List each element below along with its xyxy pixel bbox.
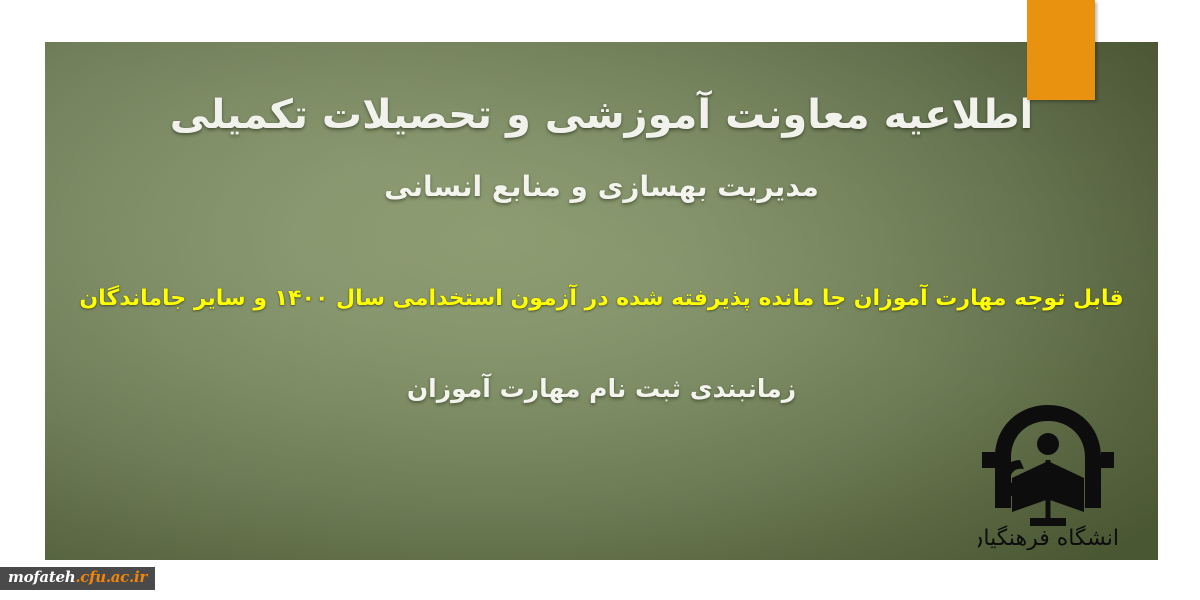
logo-caption-calligraphy: دانشگاه فرهنگیان bbox=[978, 525, 1118, 550]
slide-background: اطلاعیه معاونت آموزشی و تحصیلات تکمیلی م… bbox=[45, 42, 1158, 560]
accent-block-orange bbox=[1027, 0, 1095, 100]
slide-page: اطلاعیه معاونت آموزشی و تحصیلات تکمیلی م… bbox=[0, 0, 1200, 600]
watermark-site-name: mofateh bbox=[8, 568, 75, 586]
watermark-domain: .cfu.ac.ir bbox=[75, 568, 147, 586]
page-title: اطلاعیه معاونت آموزشی و تحصیلات تکمیلی bbox=[45, 90, 1158, 140]
university-logo: دانشگاه فرهنگیان bbox=[978, 400, 1118, 550]
notice-highlight-text: قابل توجه مهارت آموزان جا مانده پذیرفته … bbox=[45, 285, 1158, 313]
farhangian-logo-icon: دانشگاه فرهنگیان bbox=[978, 400, 1118, 550]
logo-caption-text: دانشگاه فرهنگیان bbox=[978, 525, 1118, 550]
watermark: mofateh.cfu.ac.ir bbox=[0, 567, 155, 590]
page-subtitle: مدیریت بهسازی و منابع انسانی bbox=[45, 169, 1158, 204]
